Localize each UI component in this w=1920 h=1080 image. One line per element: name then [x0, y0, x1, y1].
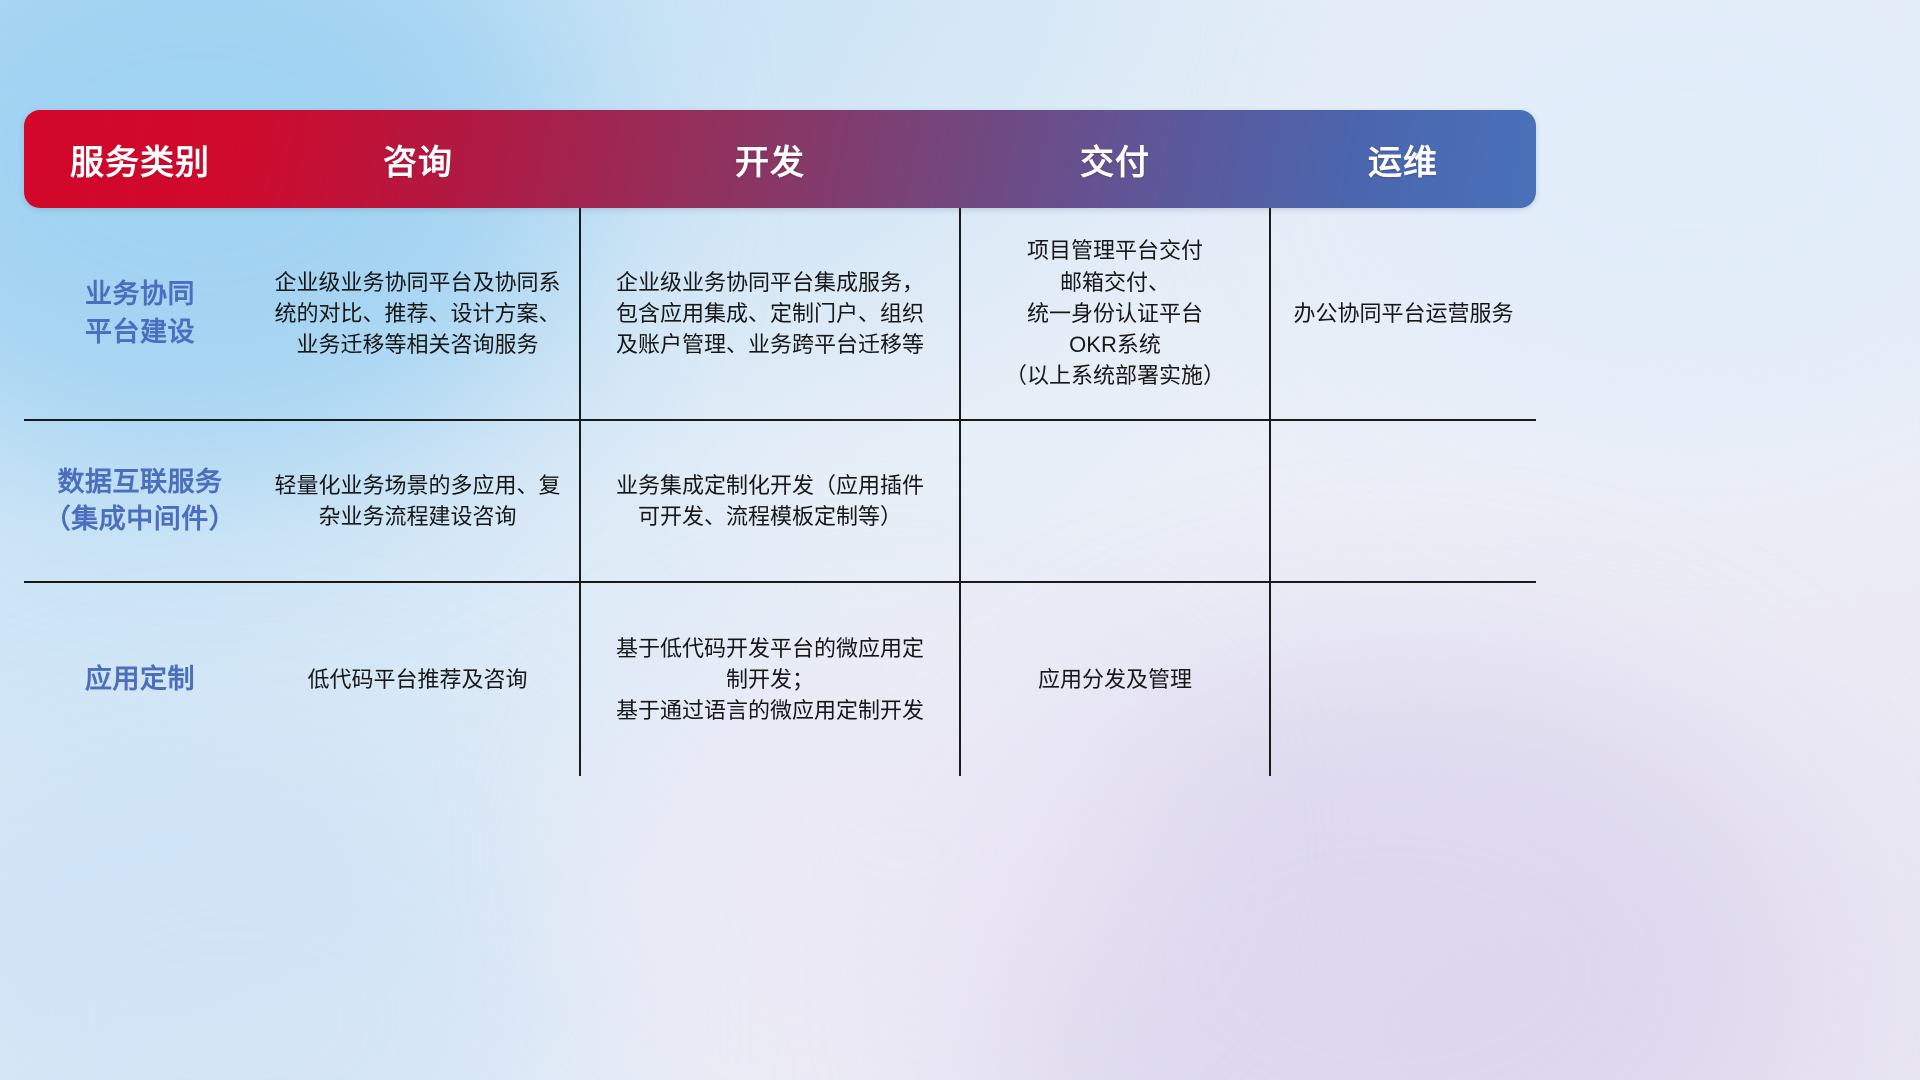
cell-operations: [1270, 582, 1536, 776]
header-label-category: 服务类别: [24, 135, 256, 184]
header-label-operations: 运维: [1270, 135, 1536, 184]
table-row: 数据互联服务 （集成中间件） 轻量化业务场景的多应用、复 杂业务流程建设咨询 业…: [24, 420, 1536, 582]
cell-consulting: 轻量化业务场景的多应用、复 杂业务流程建设咨询: [256, 420, 580, 582]
cell-value: 数据互联服务 （集成中间件）: [38, 464, 242, 539]
header-cell-development: 开发: [580, 110, 960, 208]
table-body: 业务协同 平台建设 企业级业务协同平台及协同系 统的对比、推荐、设计方案、 业务…: [24, 208, 1536, 776]
background-glow-bottom-left: [0, 740, 580, 1080]
cell-delivery: [960, 420, 1270, 582]
cell-operations: [1270, 420, 1536, 582]
header-cell-delivery: 交付: [960, 110, 1270, 208]
cell-value: 低代码平台推荐及咨询: [270, 664, 565, 695]
cell-value: 轻量化业务场景的多应用、复 杂业务流程建设咨询: [270, 470, 565, 532]
table-row: 应用定制 低代码平台推荐及咨询 基于低代码开发平台的微应用定 制开发； 基于通过…: [24, 582, 1536, 776]
cell-development: 企业级业务协同平台集成服务， 包含应用集成、定制门户、组织 及账户管理、业务跨平…: [580, 208, 960, 420]
cell-value: 业务集成定制化开发（应用插件 可开发、流程模板定制等）: [595, 470, 945, 532]
header-label-development: 开发: [580, 135, 960, 184]
cell-delivery: 项目管理平台交付 邮箱交付、 统一身份认证平台 OKR系统 （以上系统部署实施）: [960, 208, 1270, 420]
service-matrix-table: 服务类别 咨询 开发 交付 运维 业务协同 平台建设: [24, 110, 1536, 776]
cell-value: 企业级业务协同平台及协同系 统的对比、推荐、设计方案、 业务迁移等相关咨询服务: [270, 267, 565, 361]
cell-value: 办公协同平台运营服务: [1285, 298, 1522, 329]
header-cell-operations: 运维: [1270, 110, 1536, 208]
table-row: 业务协同 平台建设 企业级业务协同平台及协同系 统的对比、推荐、设计方案、 业务…: [24, 208, 1536, 420]
cell-consulting: 企业级业务协同平台及协同系 统的对比、推荐、设计方案、 业务迁移等相关咨询服务: [256, 208, 580, 420]
cell-value: 应用定制: [38, 661, 242, 698]
cell-operations: 办公协同平台运营服务: [1270, 208, 1536, 420]
service-matrix-container: 服务类别 咨询 开发 交付 运维 业务协同 平台建设: [24, 110, 1536, 776]
cell-delivery: 应用分发及管理: [960, 582, 1270, 776]
cell-value: 企业级业务协同平台集成服务， 包含应用集成、定制门户、组织 及账户管理、业务跨平…: [595, 267, 945, 361]
table-header-row: 服务类别 咨询 开发 交付 运维: [24, 110, 1536, 208]
cell-development: 基于低代码开发平台的微应用定 制开发； 基于通过语言的微应用定制开发: [580, 582, 960, 776]
cell-value: 基于低代码开发平台的微应用定 制开发； 基于通过语言的微应用定制开发: [595, 633, 945, 727]
table-header: 服务类别 咨询 开发 交付 运维: [24, 110, 1536, 208]
cell-value: 项目管理平台交付 邮箱交付、 统一身份认证平台 OKR系统 （以上系统部署实施）: [975, 235, 1255, 391]
row-category-label: 应用定制: [24, 582, 256, 776]
header-label-consulting: 咨询: [256, 135, 580, 184]
cell-value: 应用分发及管理: [975, 664, 1255, 695]
header-label-delivery: 交付: [960, 135, 1270, 184]
header-cell-consulting: 咨询: [256, 110, 580, 208]
row-category-label: 业务协同 平台建设: [24, 208, 256, 420]
cell-development: 业务集成定制化开发（应用插件 可开发、流程模板定制等）: [580, 420, 960, 582]
cell-consulting: 低代码平台推荐及咨询: [256, 582, 580, 776]
header-cell-category: 服务类别: [24, 110, 256, 208]
row-category-label: 数据互联服务 （集成中间件）: [24, 420, 256, 582]
cell-value: 业务协同 平台建设: [38, 276, 242, 351]
